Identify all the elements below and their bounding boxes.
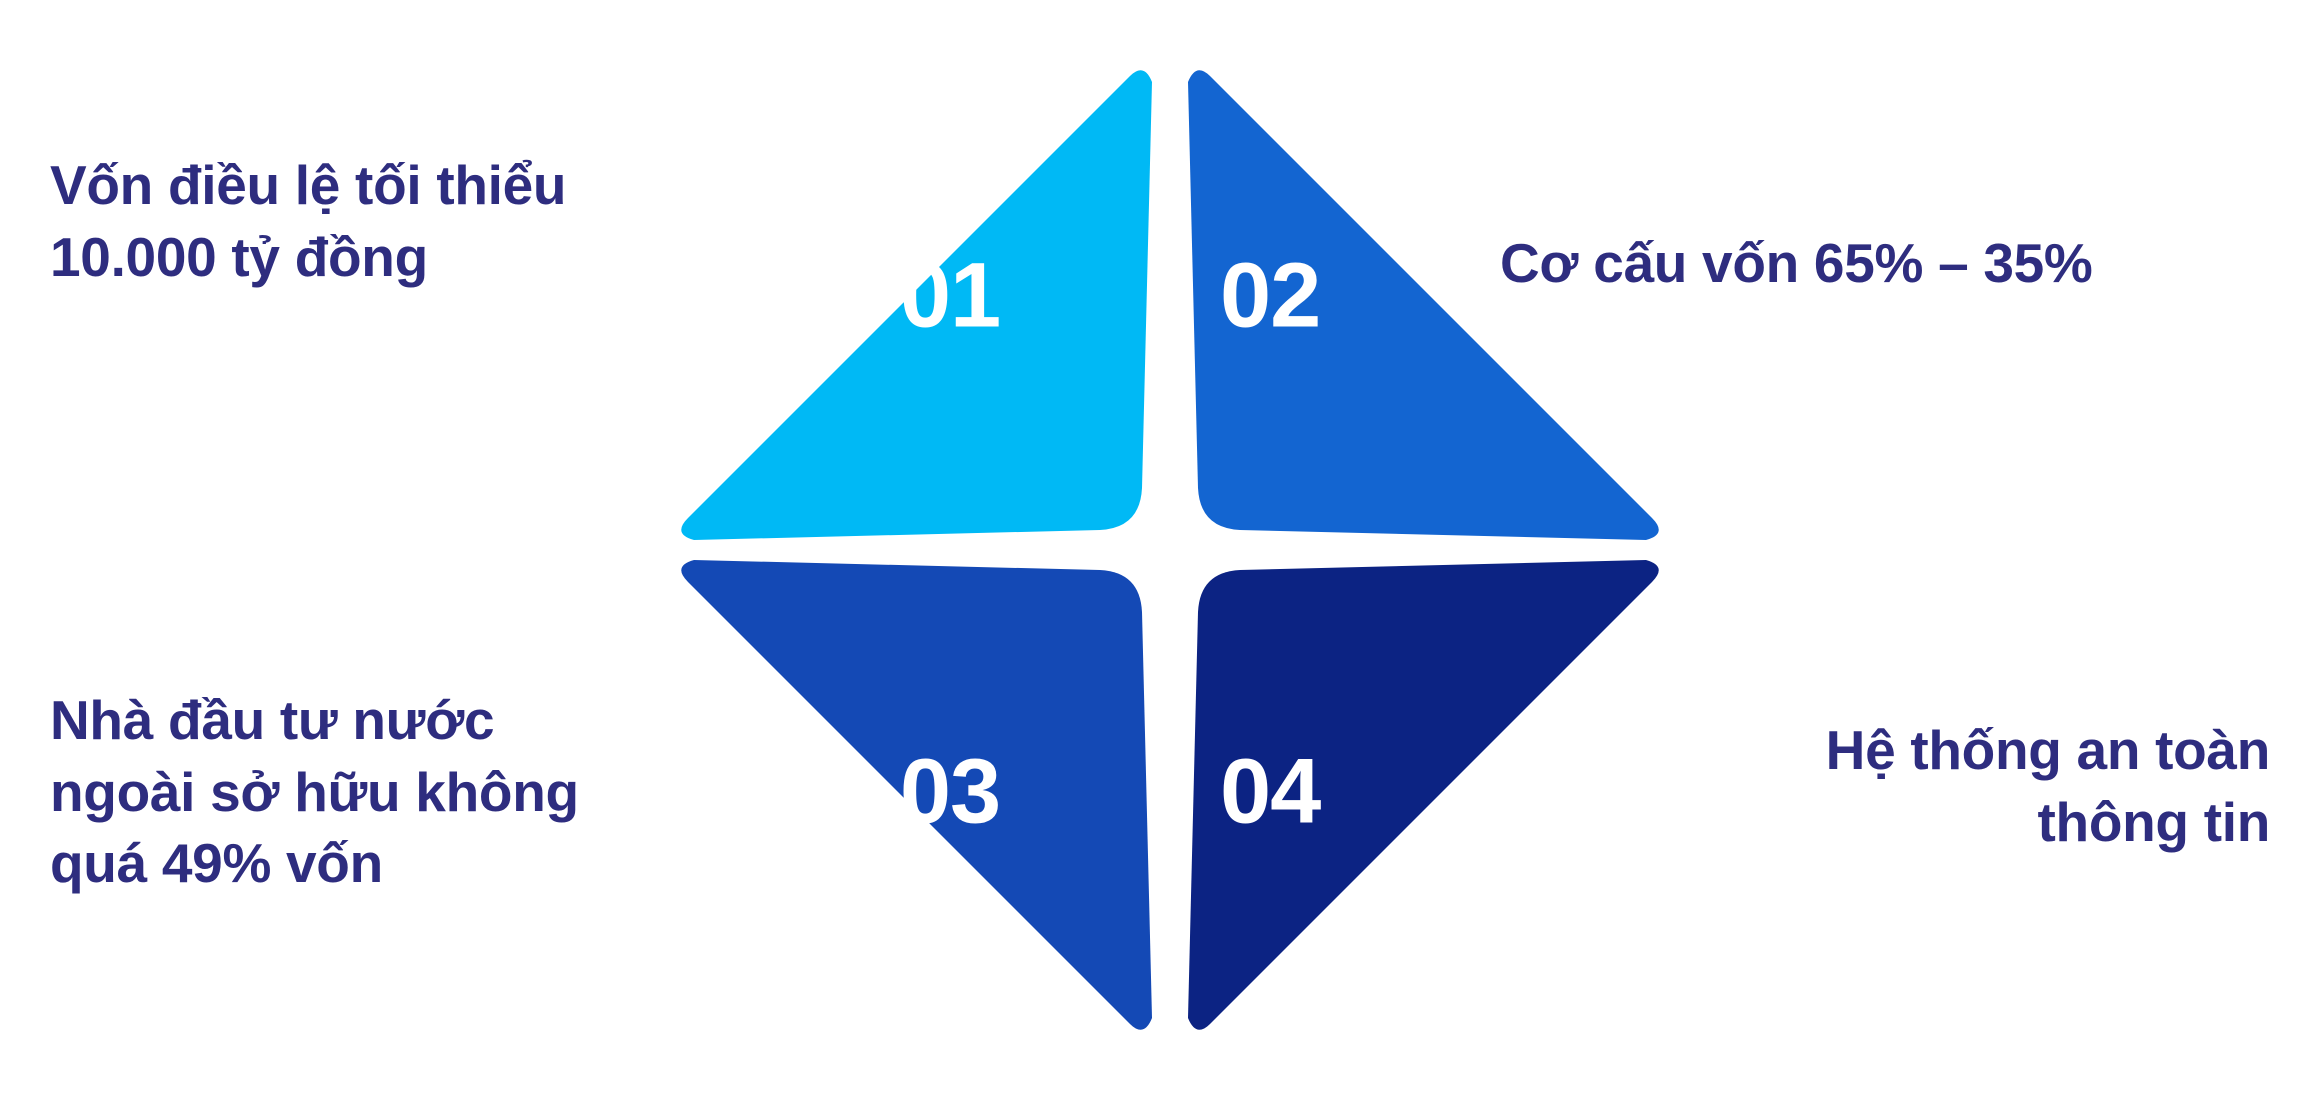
diamond-diagram: 01 02 03 04: [660, 40, 1680, 1060]
quadrant-02-number: 02: [1220, 244, 1320, 346]
quadrant-04-label: Hệ thống an toàn thông tin: [1540, 715, 2270, 858]
quadrant-02[interactable]: 02: [1188, 70, 1659, 540]
quadrant-01-number: 01: [900, 244, 1000, 346]
quadrant-01-label: Vốn điều lệ tối thiểu 10.000 tỷ đồng: [50, 150, 770, 293]
quadrant-03-label: Nhà đầu tư nước ngoài sở hữu không quá 4…: [50, 685, 770, 900]
infographic-canvas: 01 02 03 04 Vốn điều lệ tối thiểu 10.000…: [0, 0, 2304, 1100]
quadrant-03-number: 03: [900, 740, 1000, 842]
quadrant-01[interactable]: 01: [681, 70, 1152, 540]
quadrant-02-label: Cơ cấu vốn 65% – 35%: [1500, 228, 2270, 300]
quadrant-04-number: 04: [1220, 740, 1321, 842]
